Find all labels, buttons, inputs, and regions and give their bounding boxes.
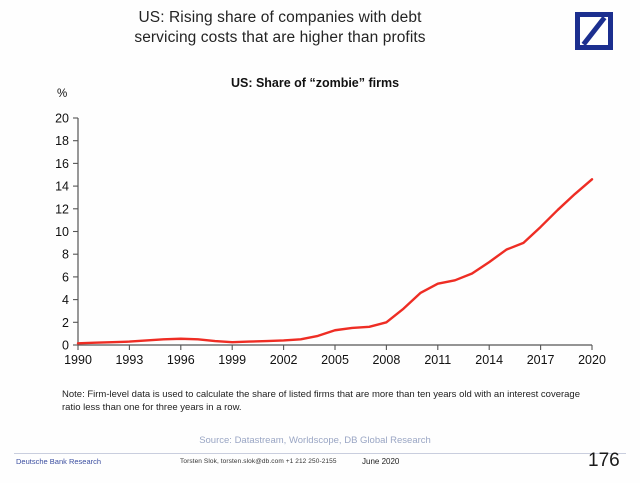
series-line-zombie-firms bbox=[78, 179, 592, 343]
deutsche-bank-logo-icon bbox=[575, 12, 613, 50]
x-axis-tick-label: 1993 bbox=[115, 353, 143, 367]
page-title-line-1: US: Rising share of companies with debt bbox=[60, 8, 500, 28]
y-axis-tick-label: 12 bbox=[55, 202, 69, 216]
logo-inner-square bbox=[580, 17, 608, 45]
x-axis-tick-label: 2008 bbox=[372, 353, 400, 367]
y-axis-tick-label: 0 bbox=[62, 339, 69, 353]
chart-source: Source: Datastream, Worldscope, DB Globa… bbox=[80, 435, 550, 446]
y-axis-tick-label: 6 bbox=[62, 270, 69, 284]
chart-axes bbox=[78, 118, 592, 345]
page-title-line-2: servicing costs that are higher than pro… bbox=[60, 28, 500, 48]
x-axis-tick-label: 2017 bbox=[527, 353, 555, 367]
slide-canvas: US: Rising share of companies with debt … bbox=[0, 0, 640, 483]
page-number: 176 bbox=[588, 450, 620, 472]
y-axis-tick-label: 2 bbox=[62, 316, 69, 330]
x-axis-tick-label: 2005 bbox=[321, 353, 349, 367]
x-axis-tick-label: 2020 bbox=[578, 353, 606, 367]
y-axis-tick-label: 16 bbox=[55, 157, 69, 171]
x-axis-tick-label: 2002 bbox=[270, 353, 298, 367]
footer-date: June 2020 bbox=[362, 457, 399, 466]
x-axis-tick-label: 1996 bbox=[167, 353, 195, 367]
y-axis-tick-label: 20 bbox=[55, 112, 69, 126]
y-axis-tick-label: 10 bbox=[55, 225, 69, 239]
chart-series-group bbox=[78, 179, 592, 343]
x-axis-tick-label: 1999 bbox=[218, 353, 246, 367]
logo-slash bbox=[582, 17, 607, 45]
footer-brand: Deutsche Bank Research bbox=[16, 457, 101, 466]
y-axis-unit-label: % bbox=[57, 88, 67, 100]
y-axis-ticks: 02468101214161820 bbox=[55, 112, 78, 353]
footer-contact: Torsten Slok, torsten.slok@db.com +1 212… bbox=[180, 458, 337, 465]
page-title: US: Rising share of companies with debt … bbox=[60, 8, 500, 48]
footer-divider bbox=[14, 453, 626, 454]
x-axis-tick-label: 2011 bbox=[424, 353, 451, 367]
x-axis-ticks: 1990199319961999200220052008201120142017… bbox=[64, 345, 606, 367]
x-axis-tick-label: 2014 bbox=[475, 353, 503, 367]
chart-note: Note: Firm-level data is used to calcula… bbox=[62, 388, 582, 414]
x-axis-tick-label: 1990 bbox=[64, 353, 92, 367]
y-axis-tick-label: 18 bbox=[55, 134, 69, 148]
chart-note-line-1: Note: Firm-level data is used to calcula… bbox=[62, 389, 491, 400]
y-axis-tick-label: 8 bbox=[62, 248, 69, 262]
y-axis-tick-label: 4 bbox=[62, 293, 69, 307]
y-axis-tick-label: 14 bbox=[55, 180, 69, 194]
chart-title: US: Share of “zombie” firms bbox=[80, 76, 550, 90]
